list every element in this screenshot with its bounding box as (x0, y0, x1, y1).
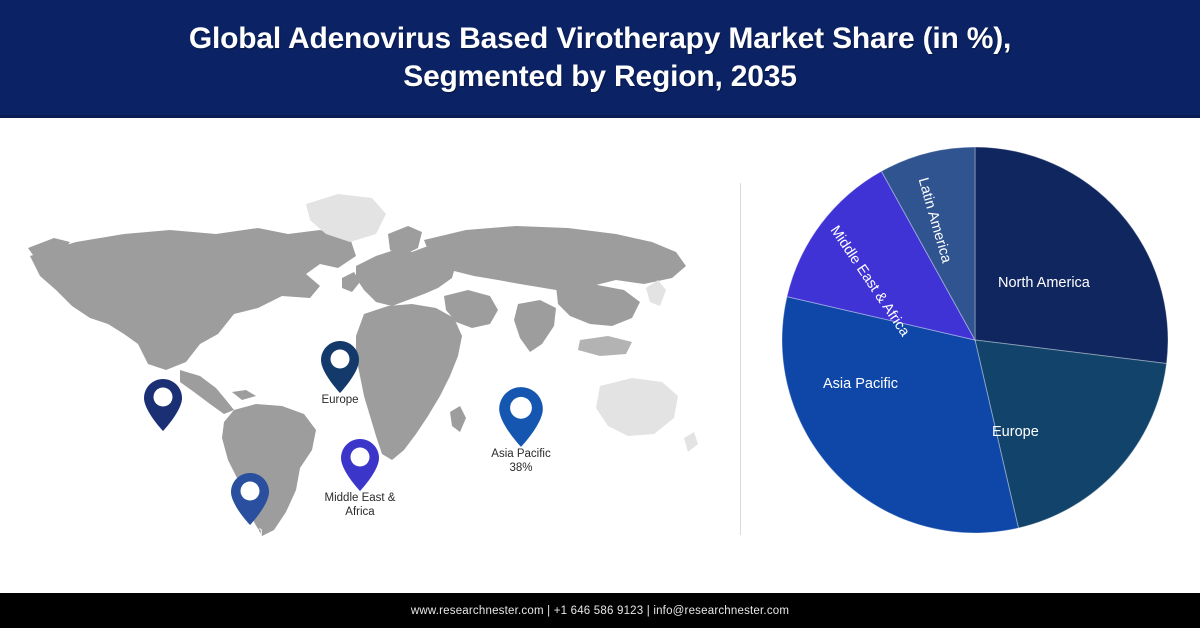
header-banner: Global Adenovirus Based Virotherapy Mark… (0, 0, 1200, 115)
map-pin-label-latin-america: Latin America (170, 526, 330, 553)
map-pin-label-north-america: North America (83, 432, 243, 446)
pie-slices-group (782, 147, 1168, 533)
pin-label-text: Asia Pacific (491, 448, 550, 460)
pin-sublabel-text: America (170, 540, 330, 554)
map-pin-label-middle-east-africa: Middle East & Africa (280, 492, 440, 519)
location-pin-icon (230, 472, 270, 526)
content-area: North America Europe (0, 118, 1200, 593)
pin-sublabel-text: 38% (441, 462, 601, 476)
page-title-line-2: Segmented by Region, 2035 (100, 58, 1100, 96)
pie-chart-panel: North AmericaEuropeAsia PacificMiddle Ea… (740, 118, 1200, 588)
pie-chart-svg (740, 118, 1200, 588)
pin-label-text: Middle East & (325, 492, 396, 504)
location-pin-icon (320, 340, 360, 394)
page-title-line-1: Global Adenovirus Based Virotherapy Mark… (100, 20, 1100, 58)
pin-label-text: Europe (321, 394, 358, 406)
infographic-root: Global Adenovirus Based Virotherapy Mark… (0, 0, 1200, 628)
map-pin-label-asia-pacific: Asia Pacific 38% (441, 448, 601, 475)
location-pin-icon (497, 386, 545, 448)
location-pin-icon (143, 378, 183, 432)
pie-label-asia-pacific: Asia Pacific (823, 376, 898, 392)
header-inner: Global Adenovirus Based Virotherapy Mark… (100, 20, 1100, 96)
pie-slice-north-america[interactable] (975, 147, 1168, 364)
location-pin-icon (340, 438, 380, 492)
footer-bar: www.researchnester.com | +1 646 586 9123… (0, 593, 1200, 628)
world-map-panel: North America Europe (0, 118, 720, 588)
pie-label-north-america: North America (998, 275, 1090, 291)
footer-contact-text: www.researchnester.com | +1 646 586 9123… (411, 605, 789, 617)
pin-label-text: Latin (238, 526, 263, 538)
pin-label-text: North America (127, 432, 200, 444)
pin-sublabel-text: Africa (280, 506, 440, 520)
pie-label-europe: Europe (992, 424, 1039, 440)
map-pin-label-europe: Europe (260, 394, 420, 408)
